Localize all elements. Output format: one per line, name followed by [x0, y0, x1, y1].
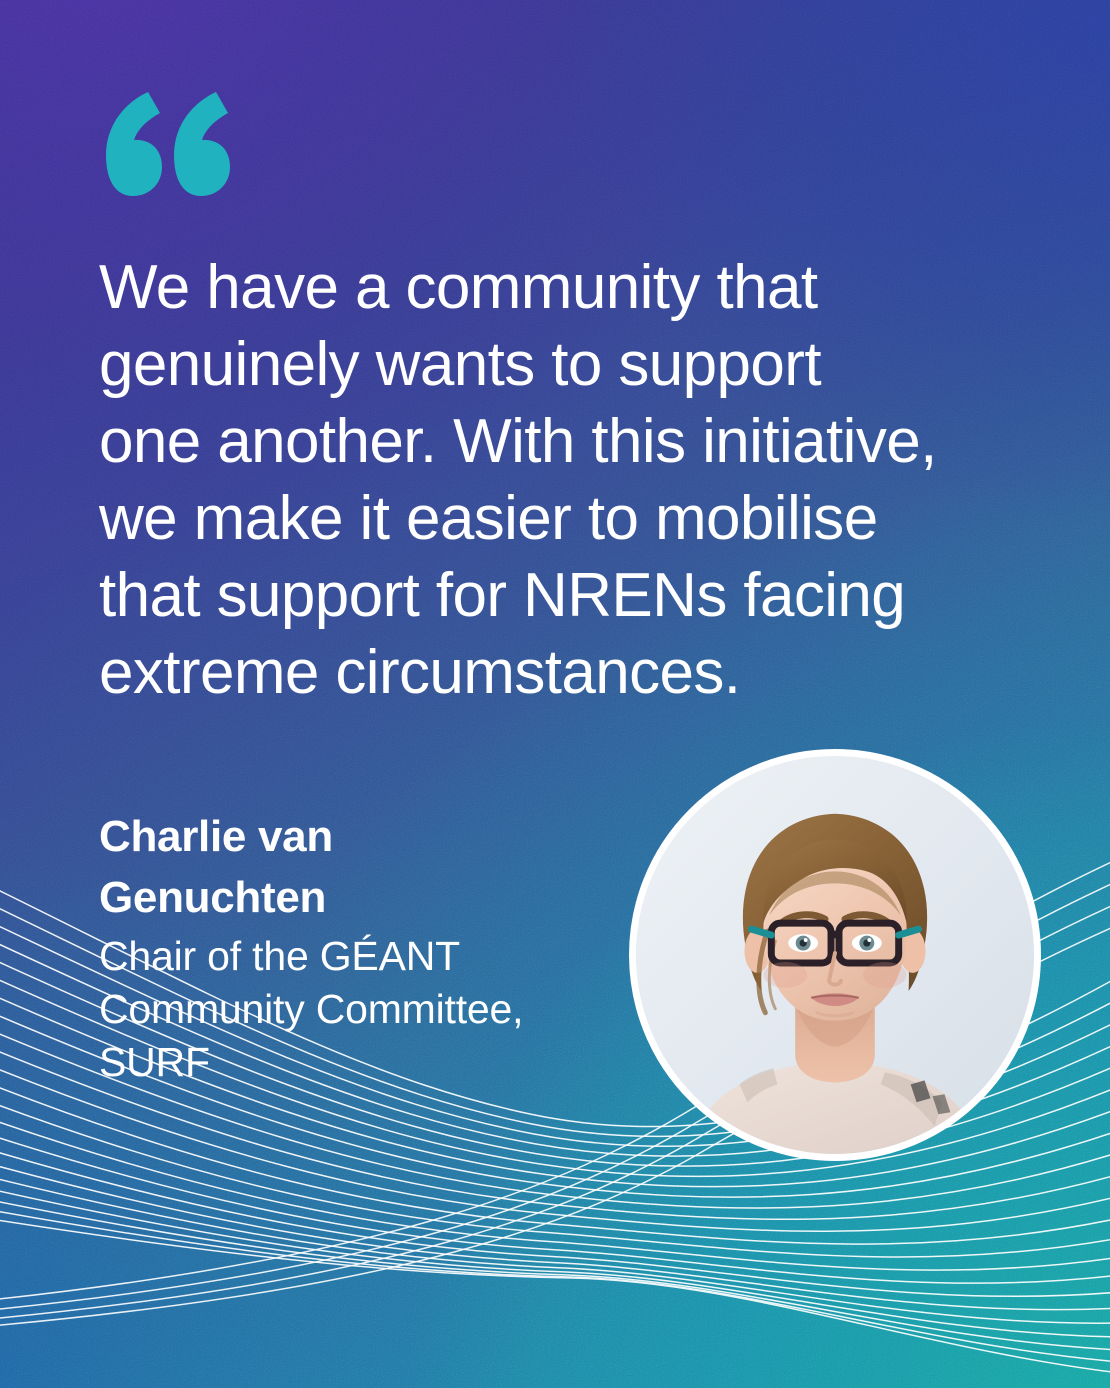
- quote-text: We have a community that genuinely wants…: [99, 249, 1059, 711]
- attribution-block: Charlie van Genuchten Chair of the GÉANT…: [99, 806, 619, 1089]
- attribution-role: Chair of the GÉANT Community Committee, …: [99, 930, 619, 1089]
- attribution-name: Charlie van Genuchten: [99, 806, 619, 928]
- avatar: [629, 749, 1041, 1161]
- double-open-quote-icon: [98, 92, 238, 196]
- portrait-illustration: [636, 756, 1034, 1154]
- quote-card: We have a community that genuinely wants…: [0, 0, 1110, 1388]
